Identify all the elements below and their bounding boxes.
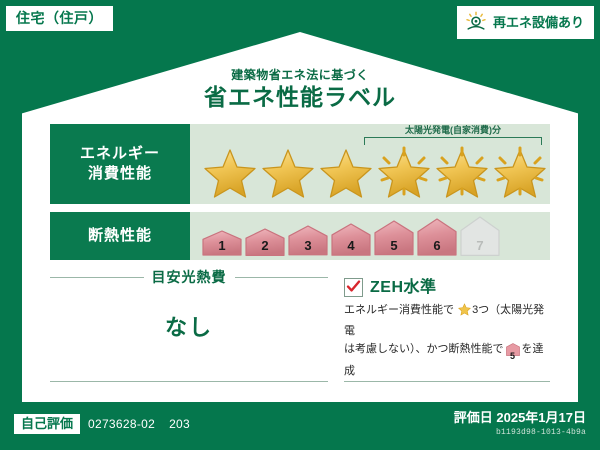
label-footer: 自己評価 0273628-02203 評価日 2025年1月17日 b1193d… <box>0 404 600 450</box>
insulation-level-number: 1 <box>202 239 242 252</box>
title-main: 省エネ性能ラベル <box>22 83 578 112</box>
energy-performance-label-box: エネルギー 消費性能 <box>50 124 190 204</box>
footer-right: 評価日 2025年1月17日 b1193d98-1013-4b9a <box>454 410 586 437</box>
rule-right <box>235 277 329 278</box>
footer-left: 自己評価 0273628-02203 <box>14 414 190 434</box>
energy-performance-label: 住宅（住戸） 再エネ設備あり 建築物省エネ法に基づく 省エネ性能ラベル <box>0 0 600 450</box>
utility-cost-bottom-rule <box>50 381 328 382</box>
zeh-bottom-rule <box>344 381 550 382</box>
sun-solar-icon <box>465 11 487 33</box>
star-solar <box>492 144 548 198</box>
solar-annotation: 太陽光発電(自家消費)分 <box>364 126 542 145</box>
evaluation-type-badge: 自己評価 <box>14 414 80 434</box>
energy-performance-body: 太陽光発電(自家消費)分 <box>190 124 550 204</box>
solar-annotation-label: 太陽光発電(自家消費)分 <box>364 126 542 136</box>
insulation-level-scale: 1234567 <box>202 216 500 256</box>
insulation-label: 断熱性能 <box>88 226 152 246</box>
zeh-title: ZEH水準 <box>370 280 437 296</box>
insulation-level-active: 1 <box>202 230 242 256</box>
zeh-description: エネルギー消費性能で 3つ（太陽光発電 は考慮しない）、かつ断熱性能で 5 を達… <box>344 301 550 381</box>
insulation-level-active: 6 <box>417 218 457 256</box>
utility-cost-section: 目安光熱費 なし <box>50 270 328 388</box>
star-rating <box>190 144 550 198</box>
insulation-level-inactive: 7 <box>460 216 500 256</box>
evaluation-date: 評価日 2025年1月17日 <box>454 410 586 426</box>
insulation-level-number: 5 <box>374 239 414 252</box>
insulation-level-active: 2 <box>245 228 285 256</box>
insulation-level-number: 6 <box>417 239 457 252</box>
evaluation-date-label: 評価日 <box>454 410 493 425</box>
footer-code-main: 0273628-02 <box>88 417 155 431</box>
insulation-level-number: 7 <box>460 239 500 252</box>
label-uuid: b1193d98-1013-4b9a <box>454 428 586 438</box>
footer-code: 0273628-02203 <box>88 417 190 431</box>
label-content: エネルギー 消費性能 太陽光発電(自家消費)分 断熱性能 12345 <box>50 124 550 390</box>
label-panel: 建築物省エネ法に基づく 省エネ性能ラベル エネルギー 消費性能 太陽光発電(自家… <box>22 32 578 402</box>
insulation-performance-row: 断熱性能 1234567 <box>50 212 550 260</box>
check-icon <box>346 279 361 294</box>
utility-cost-title: 目安光熱費 <box>152 270 227 284</box>
insulation-level-active: 5 <box>374 220 414 256</box>
zeh-heading: ZEH水準 <box>344 278 550 297</box>
title-subtitle: 建築物省エネ法に基づく <box>22 68 578 82</box>
energy-label-line2: 消費性能 <box>88 164 152 184</box>
zeh-desc-part1: エネルギー消費性能で <box>344 304 454 316</box>
energy-label-line1: エネルギー <box>80 144 160 164</box>
label-title: 建築物省エネ法に基づく 省エネ性能ラベル <box>22 68 578 112</box>
zeh-section: ZEH水準 エネルギー消費性能で 3つ（太陽光発電 は考慮しない）、かつ断熱性能… <box>328 270 550 388</box>
zeh-desc-part2: は考慮しない）、かつ断熱性能で <box>344 343 504 355</box>
insulation-performance-body: 1234567 <box>190 212 550 260</box>
insulation-level-active: 4 <box>331 223 371 256</box>
renewable-equipment-badge: 再エネ設備あり <box>457 6 594 39</box>
bottom-sections: 目安光熱費 なし ZEH水準 <box>50 270 550 388</box>
star-solar <box>376 144 432 198</box>
insulation-performance-label-box: 断熱性能 <box>50 212 190 260</box>
insulation-level-number: 4 <box>331 239 371 252</box>
star-filled <box>318 144 374 198</box>
energy-performance-row: エネルギー 消費性能 太陽光発電(自家消費)分 <box>50 124 550 204</box>
housing-type-tag: 住宅（住戸） <box>6 6 113 31</box>
star-filled <box>260 144 316 198</box>
utility-cost-heading: 目安光熱費 <box>50 270 328 284</box>
rule-left <box>50 277 144 278</box>
insulation-level-number: 3 <box>288 239 328 252</box>
inline-star-icon <box>455 307 471 319</box>
zeh-checkbox[interactable] <box>344 278 363 297</box>
footer-code-sub: 203 <box>169 417 190 431</box>
renewable-badge-label: 再エネ設備あり <box>493 16 584 29</box>
inline-house-level: 5 <box>506 352 520 361</box>
utility-cost-value: なし <box>50 310 328 342</box>
inline-house-icon: 5 <box>506 343 520 362</box>
insulation-level-number: 2 <box>245 239 285 252</box>
star-solar <box>434 144 490 198</box>
evaluation-date-value: 2025年1月17日 <box>496 410 586 425</box>
insulation-level-active: 3 <box>288 225 328 256</box>
star-filled <box>202 144 258 198</box>
